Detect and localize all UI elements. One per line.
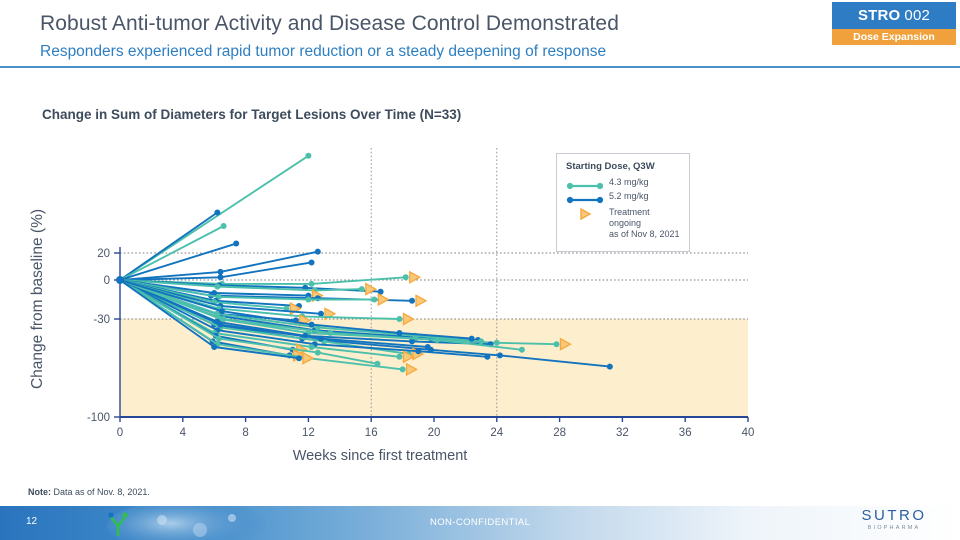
slide-header: Robust Anti-tumor Activity and Disease C… — [0, 0, 960, 68]
page-title: Robust Anti-tumor Activity and Disease C… — [40, 12, 619, 36]
page-number: 12 — [26, 516, 37, 527]
x-tick-label: 8 — [242, 427, 248, 439]
badge-phase: Dose Expansion — [832, 29, 956, 45]
data-point — [221, 316, 227, 322]
footnote-text: Data as of Nov. 8, 2021. — [51, 487, 150, 497]
spider-plot: 0481216202428323640200-30-100 — [0, 130, 960, 450]
data-point — [214, 210, 220, 216]
badge-program-number: 002 — [904, 7, 930, 24]
legend-item-dose-5-2: 5.2 mg/kg — [566, 191, 681, 202]
x-tick-label: 24 — [490, 427, 503, 439]
legend-ongoing-line1: Treatment ongoing — [609, 207, 650, 228]
legend-swatch-blue — [566, 192, 604, 202]
legend-title: Starting Dose, Q3W — [566, 161, 681, 172]
logo-tagline: BIOPHARMA — [846, 525, 942, 531]
data-point — [396, 330, 402, 336]
legend-label-dose-5-2: 5.2 mg/kg — [609, 191, 649, 202]
badge-program: STRO 002 — [832, 2, 956, 29]
x-tick-label: 36 — [679, 427, 692, 439]
data-point — [217, 274, 223, 280]
data-point — [469, 336, 475, 342]
data-point — [315, 249, 321, 255]
y-tick-label: 0 — [104, 275, 110, 287]
data-point — [214, 284, 220, 290]
legend-label-dose-4-3: 4.3 mg/kg — [609, 177, 649, 188]
data-point — [607, 364, 613, 370]
y-tick-label: -30 — [93, 314, 110, 326]
legend-label-ongoing: Treatment ongoing as of Nov 8, 2021 — [609, 207, 681, 241]
company-logo: SUTRO BIOPHARMA — [846, 508, 942, 531]
treatment-ongoing-icon — [566, 207, 604, 221]
data-point — [211, 344, 217, 350]
data-point — [219, 308, 225, 314]
treatment-ongoing-marker — [416, 295, 426, 306]
y-tick-label: 20 — [97, 248, 110, 260]
data-point — [553, 341, 559, 347]
patient-line — [120, 213, 217, 281]
data-point — [309, 344, 315, 350]
data-point — [315, 350, 321, 356]
data-point — [400, 366, 406, 372]
chart-title: Change in Sum of Diameters for Target Le… — [42, 107, 461, 122]
x-tick-label: 40 — [742, 427, 755, 439]
data-point — [327, 330, 333, 336]
x-tick-label: 0 — [117, 427, 123, 439]
data-point — [309, 259, 315, 265]
logo-wordmark: SUTRO — [846, 508, 942, 523]
data-point — [305, 297, 311, 303]
data-point — [425, 344, 431, 350]
data-point — [305, 153, 311, 159]
legend-ongoing-line2: as of Nov 8, 2021 — [609, 229, 680, 239]
data-point — [403, 274, 409, 280]
data-point — [233, 241, 239, 247]
data-point — [217, 322, 223, 328]
treatment-ongoing-marker — [378, 294, 388, 305]
legend-item-ongoing: Treatment ongoing as of Nov 8, 2021 — [566, 207, 681, 241]
data-point — [309, 322, 315, 328]
x-tick-label: 16 — [365, 427, 378, 439]
data-point — [415, 348, 421, 354]
x-tick-label: 32 — [616, 427, 629, 439]
data-point — [309, 281, 315, 287]
data-point — [371, 297, 377, 303]
data-point — [396, 316, 402, 322]
header-divider — [0, 66, 960, 68]
x-tick-label: 12 — [302, 427, 315, 439]
footer-decoration — [92, 506, 352, 540]
treatment-ongoing-marker — [410, 272, 420, 283]
data-point — [494, 340, 500, 346]
data-point — [497, 352, 503, 358]
footnote: Note: Data as of Nov. 8, 2021. — [28, 487, 150, 497]
x-tick-label: 20 — [428, 427, 441, 439]
program-badge: STRO 002 Dose Expansion — [832, 2, 956, 45]
page-subtitle: Responders experienced rapid tumor reduc… — [40, 43, 606, 61]
legend-swatch-teal — [566, 178, 604, 188]
data-point — [318, 336, 324, 342]
data-point — [519, 347, 525, 353]
legend-item-dose-4-3: 4.3 mg/kg — [566, 177, 681, 188]
data-point — [217, 269, 223, 275]
data-point — [221, 223, 227, 229]
origin-point — [116, 276, 124, 284]
footnote-label: Note: — [28, 487, 51, 497]
data-point — [296, 355, 302, 361]
confidentiality-label: NON-CONFIDENTIAL — [430, 517, 530, 528]
data-point — [478, 338, 484, 344]
data-point — [409, 298, 415, 304]
x-tick-label: 4 — [180, 427, 187, 439]
y-tick-label: -100 — [87, 412, 110, 424]
chart-legend: Starting Dose, Q3W 4.3 mg/kg 5.2 mg/kg — [556, 153, 690, 252]
x-axis-label: Weeks since first treatment — [0, 448, 760, 464]
data-point — [216, 336, 222, 342]
x-tick-label: 28 — [553, 427, 566, 439]
data-point — [396, 354, 402, 360]
badge-program-name: STRO — [858, 7, 900, 24]
data-point — [359, 286, 365, 292]
chart-area: Change from baseline (%) Weeks since fir… — [0, 130, 960, 480]
data-point — [484, 354, 490, 360]
